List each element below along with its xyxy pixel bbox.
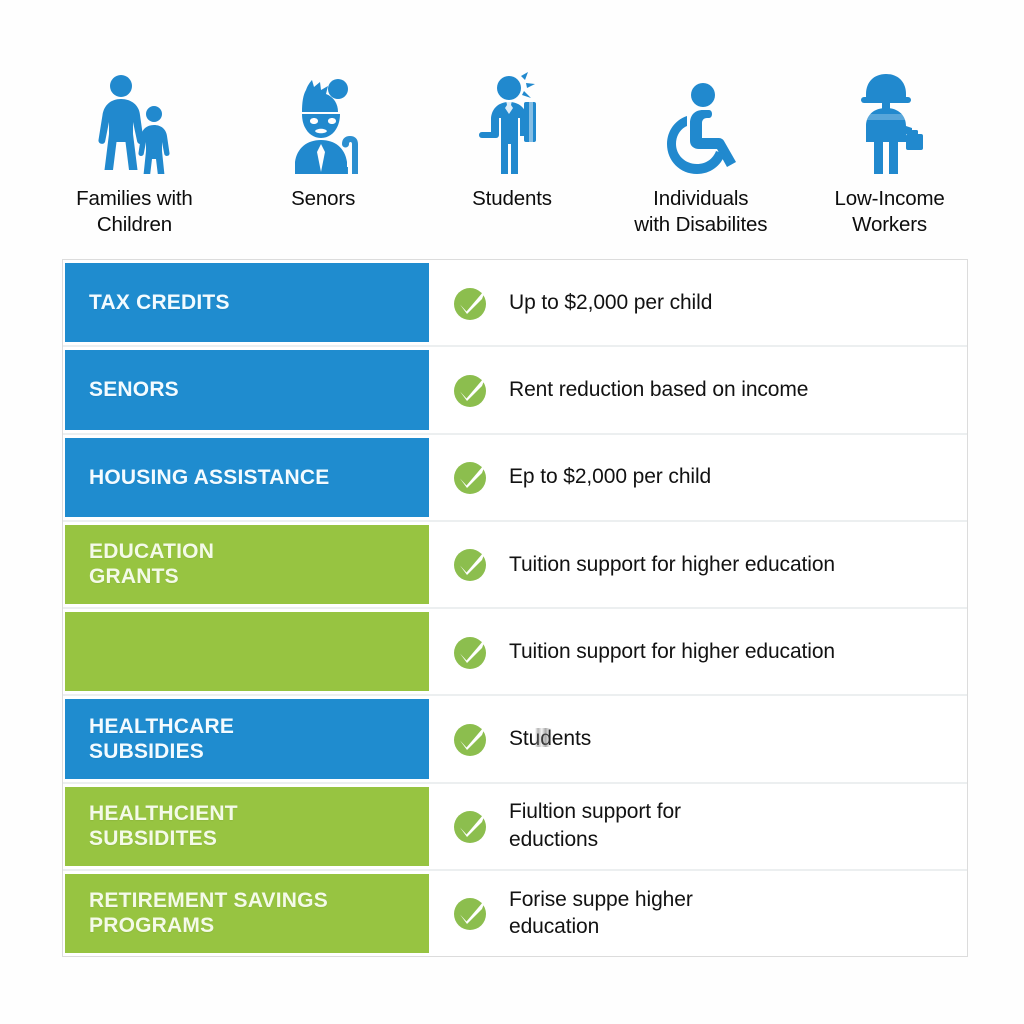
wheelchair-accessibility-icon	[653, 62, 749, 174]
description-text: Tuition support for higher education	[509, 551, 835, 579]
description-cell[interactable]: Forise suppe higher education	[429, 871, 967, 956]
category-label: HEALTHCARE SUBSIDIES	[89, 714, 234, 764]
persona-header-strip: Families with Children Senors	[40, 62, 984, 247]
description-cell[interactable]: Ep to $2,000 per child	[429, 435, 967, 520]
persona-families-with-children: Families with Children	[40, 62, 229, 238]
description-cell[interactable]: Students	[429, 696, 967, 781]
worker-with-hardhat-icon	[848, 62, 932, 174]
description-text: Ep to $2,000 per child	[509, 463, 711, 491]
persona-label: Low-Income Workers	[835, 186, 945, 238]
category-label: HOUSING ASSISTANCE	[89, 465, 329, 490]
persona-label: Families with Children	[76, 186, 193, 238]
persona-label: Senors	[291, 186, 355, 212]
senior-with-cane-icon	[276, 62, 371, 174]
persona-students: Students	[418, 62, 607, 212]
green-check-circle-icon	[451, 283, 491, 323]
category-label: EDUCATION GRANTS	[89, 539, 214, 589]
description-cell[interactable]: Rent reduction based on income	[429, 347, 967, 432]
description-cell[interactable]: Up to $2,000 per child	[429, 260, 967, 345]
description-text: Tuition support for higher education	[509, 638, 835, 666]
persona-low-income-workers: Low-Income Workers	[795, 62, 984, 238]
mother-and-child-icon	[89, 62, 179, 174]
category-cell[interactable]: HEALTHCARE SUBSIDIES	[65, 699, 429, 778]
table-row[interactable]: RETIREMENT SAVINGS PROGRAMS Forise suppe…	[63, 871, 967, 956]
table-row[interactable]: TAX CREDITS Up to $2,000 per child	[63, 260, 967, 347]
green-check-circle-icon	[451, 632, 491, 672]
category-label: SENORS	[89, 377, 179, 402]
table-row[interactable]: SENORS Rent reduction based on income	[63, 347, 967, 434]
category-label: HEALTHCIENT SUBSIDITES	[89, 801, 238, 851]
benefits-table: TAX CREDITS Up to $2,000 per child SENOR…	[62, 259, 968, 957]
table-row[interactable]: HEALTHCIENT SUBSIDITES Fiultion support …	[63, 784, 967, 871]
category-cell[interactable]: EDUCATION GRANTS	[65, 525, 429, 604]
category-cell[interactable]: SENORS	[65, 350, 429, 429]
persona-label: Individuals with Disabilites	[634, 186, 767, 238]
student-with-backpack-icon	[467, 62, 557, 174]
description-text: Students	[509, 725, 591, 753]
category-cell[interactable]: HOUSING ASSISTANCE	[65, 438, 429, 517]
table-row[interactable]: EDUCATION GRANTS Tuition support for hig…	[63, 522, 967, 609]
description-text: Rent reduction based on income	[509, 376, 808, 404]
persona-seniors: Senors	[229, 62, 418, 212]
table-row[interactable]: Tuition support for higher education	[63, 609, 967, 696]
green-check-circle-icon	[451, 370, 491, 410]
description-cell[interactable]: Fiultion support for eductions	[429, 784, 967, 869]
green-check-circle-icon	[451, 893, 491, 933]
table-row[interactable]: HEALTHCARE SUBSIDIES Students	[63, 696, 967, 783]
green-check-circle-icon	[451, 544, 491, 584]
persona-individuals-with-disabilities: Individuals with Disabilites	[606, 62, 795, 238]
category-cell[interactable]	[65, 612, 429, 691]
description-text: Fiultion support for eductions	[509, 798, 681, 853]
category-label: TAX CREDITS	[89, 290, 230, 315]
category-cell[interactable]: TAX CREDITS	[65, 263, 429, 342]
green-check-circle-icon	[451, 806, 491, 846]
table-row[interactable]: HOUSING ASSISTANCE Ep to $2,000 per chil…	[63, 435, 967, 522]
category-label: RETIREMENT SAVINGS PROGRAMS	[89, 888, 328, 938]
category-cell[interactable]: RETIREMENT SAVINGS PROGRAMS	[65, 874, 429, 953]
description-cell[interactable]: Tuition support for higher education	[429, 609, 967, 694]
description-cell[interactable]: Tuition support for higher education	[429, 522, 967, 607]
green-check-circle-icon	[451, 457, 491, 497]
category-cell[interactable]: HEALTHCIENT SUBSIDITES	[65, 787, 429, 866]
persona-label: Students	[472, 186, 552, 212]
description-text: Forise suppe higher education	[509, 886, 693, 941]
green-check-circle-icon	[451, 719, 491, 759]
description-text: Up to $2,000 per child	[509, 289, 712, 317]
